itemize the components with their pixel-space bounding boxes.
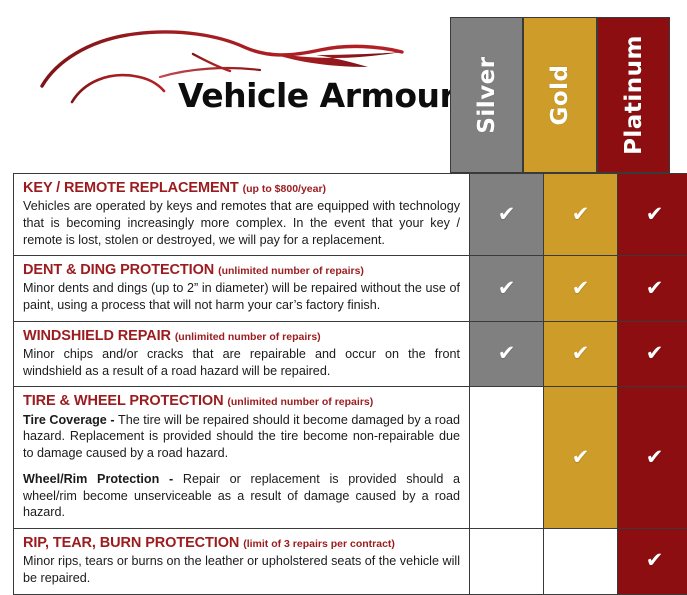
coverage-title-text: KEY / REMOTE REPLACEMENT [23,180,239,196]
check-icon: ✔ [572,278,590,299]
cell-silver: ✔ [470,321,544,387]
coverage-title: DENT & DING PROTECTION (unlimited number… [23,262,460,279]
coverage-title-text: WINDSHIELD REPAIR [23,328,171,344]
check-icon: ✔ [646,278,664,299]
cell-gold [544,528,618,594]
check-icon: ✔ [498,204,516,225]
cell-platinum: ✔ [618,528,687,594]
coverage-title-text: DENT & DING PROTECTION [23,262,214,278]
coverage-paragraph-text: Vehicles are operated by keys and remote… [23,199,460,246]
column-header-gold: Gold [523,17,597,173]
coverage-paragraph-text: Minor rips, tears or burns on the leathe… [23,554,460,585]
check-icon: ✔ [646,204,664,225]
table-row: DENT & DING PROTECTION (unlimited number… [14,256,687,322]
cell-silver: ✔ [470,174,544,256]
tier-label-gold: Gold [547,64,573,125]
coverage-description-cell: DENT & DING PROTECTION (unlimited number… [14,256,470,322]
coverage-paragraph: Minor dents and dings (up to 2” in diame… [23,280,460,313]
table-row: RIP, TEAR, BURN PROTECTION (limit of 3 r… [14,528,687,594]
coverage-paragraph-text: Minor dents and dings (up to 2” in diame… [23,281,460,312]
coverage-title: TIRE & WHEEL PROTECTION (unlimited numbe… [23,393,460,410]
coverage-title: WINDSHIELD REPAIR (unlimited number of r… [23,328,460,345]
table-body: KEY / REMOTE REPLACEMENT (up to $800/yea… [14,174,687,595]
coverage-title-text: TIRE & WHEEL PROTECTION [23,393,223,409]
coverage-paragraph-text: Minor chips and/or cracks that are repai… [23,347,460,378]
coverage-title-note: (up to $800/year) [243,183,326,195]
coverage-paragraph: Vehicles are operated by keys and remote… [23,198,460,248]
coverage-paragraph: Tire Coverage - The tire will be repaire… [23,412,460,462]
coverage-title-note: (unlimited number of repairs) [218,265,364,277]
tier-label-silver: Silver [474,56,500,133]
brand-logo: Vehicle Armour [30,14,440,119]
check-icon: ✔ [572,204,590,225]
coverage-paragraph-lead: Tire Coverage - [23,413,118,427]
coverage-title: KEY / REMOTE REPLACEMENT (up to $800/yea… [23,180,460,197]
coverage-paragraph-lead: Wheel/Rim Protection - [23,472,183,486]
coverage-title-text: RIP, TEAR, BURN PROTECTION [23,535,239,551]
coverage-title-note: (unlimited number of repairs) [175,331,321,343]
check-icon: ✔ [646,343,664,364]
brand-name: Vehicle Armour [178,76,455,115]
column-header-platinum: Platinum [597,17,670,173]
table-row: TIRE & WHEEL PROTECTION (unlimited numbe… [14,387,687,529]
check-icon: ✔ [498,278,516,299]
cell-platinum: ✔ [618,174,687,256]
check-icon: ✔ [572,343,590,364]
cell-silver [470,528,544,594]
cell-gold: ✔ [544,321,618,387]
check-icon: ✔ [498,343,516,364]
coverage-paragraph: Wheel/Rim Protection - Repair or replace… [23,471,460,521]
coverage-title-note: (limit of 3 repairs per contract) [243,538,395,550]
cell-platinum: ✔ [618,256,687,322]
cell-gold: ✔ [544,174,618,256]
column-header-silver: Silver [450,17,523,173]
check-icon: ✔ [572,447,590,468]
cell-silver: ✔ [470,256,544,322]
coverage-description-cell: WINDSHIELD REPAIR (unlimited number of r… [14,321,470,387]
header-band: Vehicle Armour Silver Gold Platinum [0,0,687,173]
coverage-paragraph: Minor chips and/or cracks that are repai… [23,346,460,379]
coverage-paragraph: Minor rips, tears or burns on the leathe… [23,553,460,586]
check-icon: ✔ [646,550,664,571]
cell-gold: ✔ [544,256,618,322]
coverage-title-note: (unlimited number of repairs) [227,396,373,408]
cell-gold: ✔ [544,387,618,529]
coverage-description-cell: TIRE & WHEEL PROTECTION (unlimited numbe… [14,387,470,529]
tier-label-platinum: Platinum [621,35,647,155]
coverage-comparison-table: KEY / REMOTE REPLACEMENT (up to $800/yea… [13,173,687,595]
cell-silver [470,387,544,529]
coverage-description-cell: RIP, TEAR, BURN PROTECTION (limit of 3 r… [14,528,470,594]
table-row: WINDSHIELD REPAIR (unlimited number of r… [14,321,687,387]
table-row: KEY / REMOTE REPLACEMENT (up to $800/yea… [14,174,687,256]
cell-platinum: ✔ [618,321,687,387]
coverage-title: RIP, TEAR, BURN PROTECTION (limit of 3 r… [23,535,460,552]
coverage-description-cell: KEY / REMOTE REPLACEMENT (up to $800/yea… [14,174,470,256]
cell-platinum: ✔ [618,387,687,529]
check-icon: ✔ [646,447,664,468]
